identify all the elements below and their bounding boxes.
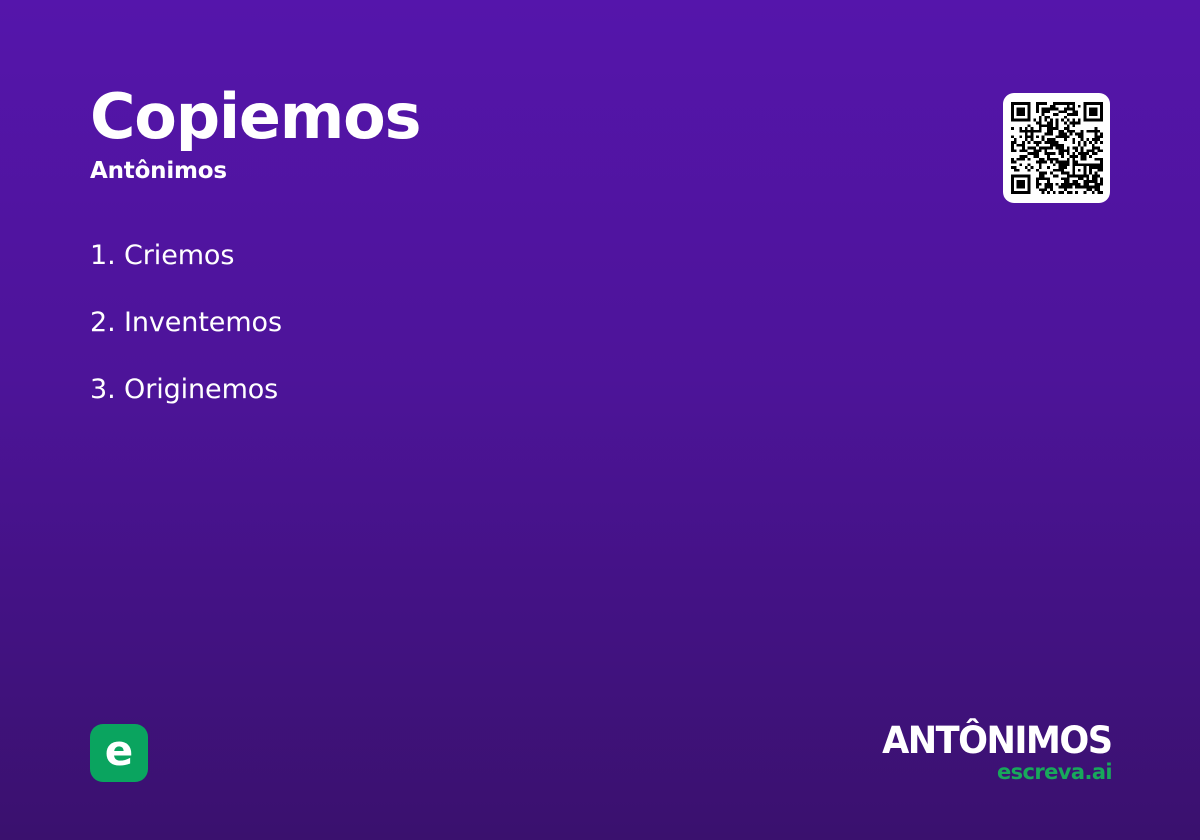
page-title: Copiemos bbox=[90, 86, 850, 148]
antonym-list: 1. Criemos 2. Inventemos 3. Originemos bbox=[90, 237, 850, 438]
escreva-e-badge-icon[interactable]: e bbox=[90, 724, 148, 782]
badge-letter: e bbox=[105, 730, 134, 772]
list-item-index: 1. bbox=[90, 240, 116, 271]
list-item: 1. Criemos bbox=[90, 237, 850, 275]
slide-card: Copiemos Antônimos 1. Criemos 2. Invente… bbox=[0, 0, 1200, 840]
list-item: 3. Originemos bbox=[90, 371, 850, 409]
headline-block: Copiemos Antônimos bbox=[90, 86, 850, 183]
list-item-index: 3. bbox=[90, 374, 116, 405]
logo-subtitle: escreva.ai bbox=[870, 761, 1112, 783]
list-item-word: Inventemos bbox=[124, 307, 282, 338]
list-item-word: Originemos bbox=[124, 374, 278, 405]
qr-code-matrix bbox=[1011, 102, 1103, 194]
qr-code-icon[interactable] bbox=[1003, 93, 1110, 203]
brand-logo-lockup: ANTÔNIMOS escreva.ai bbox=[870, 722, 1112, 783]
list-item-word: Criemos bbox=[124, 240, 234, 271]
logo-title: ANTÔNIMOS bbox=[883, 722, 1112, 760]
page-subtitle: Antônimos bbox=[90, 160, 850, 183]
list-item-index: 2. bbox=[90, 307, 116, 338]
list-item: 2. Inventemos bbox=[90, 304, 850, 342]
